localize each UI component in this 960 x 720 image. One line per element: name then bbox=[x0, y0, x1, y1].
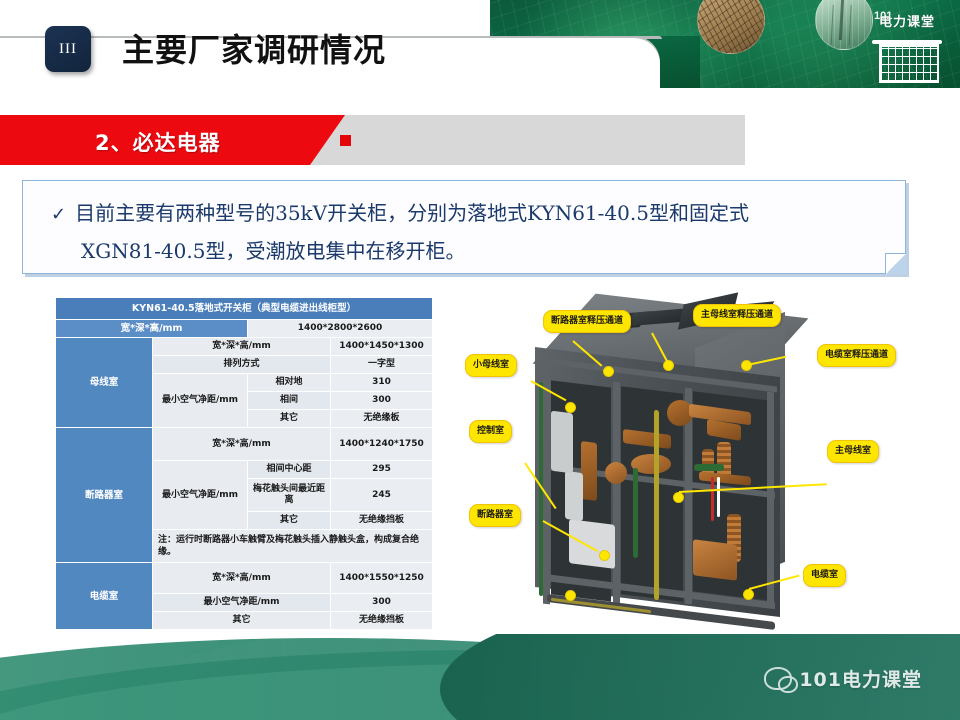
table-row: 断路器室 宽*深*高/mm 1400*1240*1750 bbox=[56, 428, 433, 461]
row-label: 其它 bbox=[153, 612, 331, 630]
callout-label-breaker-room[interactable]: 断路器室 bbox=[469, 504, 521, 527]
truck-panel bbox=[569, 519, 615, 569]
callout-label-breaker-relief[interactable]: 断路器室释压通道 bbox=[543, 310, 631, 333]
callout-dot bbox=[599, 550, 610, 561]
check-icon: ✓ bbox=[51, 204, 66, 225]
summary-line-1: ✓目前主要有两种型号的35kV开关柜，分别为落地式KYN61-40.5型和固定式 bbox=[51, 197, 749, 226]
green-wire bbox=[633, 468, 638, 558]
switchgear-diagram: 断路器室释压通道 主母线室释压通道 电缆室释压通道 小母线室 控制室 主母线室 … bbox=[455, 292, 945, 670]
row-value: 300 bbox=[331, 594, 433, 612]
footer-wave-decoration: 101电力课堂 bbox=[0, 634, 960, 720]
row-value: 1400*1450*1300 bbox=[331, 338, 433, 356]
callout-label-cable-room[interactable]: 电缆室 bbox=[803, 564, 846, 587]
callout-dot bbox=[565, 590, 576, 601]
control-panel bbox=[551, 411, 573, 474]
white-wire bbox=[717, 477, 720, 517]
overall-dimension-value: 1400*2800*2600 bbox=[248, 320, 433, 338]
section-title: 2、必达电器 bbox=[95, 127, 221, 157]
frame-post bbox=[613, 382, 620, 605]
row-label: 最小空气净距/mm bbox=[153, 461, 248, 530]
brand-logo: 101 电力课堂 bbox=[870, 4, 944, 84]
summary-line-2: XGN81-40.5型，受潮放电集中在移开柜。 bbox=[81, 235, 465, 264]
callout-label-cable-relief[interactable]: 电缆室释压通道 bbox=[817, 344, 896, 367]
row-value: 295 bbox=[331, 461, 433, 479]
callout-label-main-bus-relief[interactable]: 主母线室释压通道 bbox=[693, 304, 781, 327]
table-row: 母线室 宽*深*高/mm 1400*1450*1300 bbox=[56, 338, 433, 356]
vertical-conductor bbox=[581, 441, 597, 501]
overall-dimension-label: 宽*深*高/mm bbox=[56, 320, 248, 338]
red-square-bullet-icon bbox=[340, 135, 351, 146]
callout-dot bbox=[603, 366, 614, 377]
watermark-text: 101电力课堂 bbox=[799, 665, 922, 692]
table-title-cell: KYN61-40.5落地式开关柜（典型电缆进出线柜型） bbox=[56, 298, 433, 320]
callout-dot bbox=[663, 360, 674, 371]
logo-name-text: 电力课堂 bbox=[870, 16, 944, 30]
slide-root: 101 电力课堂 III 主要厂家调研情况 2、必达电器 ✓目前主要有两种型号的… bbox=[0, 0, 960, 720]
row-value: 无绝缘板 bbox=[331, 410, 433, 428]
row-sublabel: 梅花触头间最近距离 bbox=[248, 479, 331, 512]
section-banner-red: 2、必达电器 bbox=[0, 115, 345, 165]
callout-dot bbox=[743, 589, 754, 600]
callout-dot bbox=[565, 402, 576, 413]
row-label: 宽*深*高/mm bbox=[153, 563, 331, 594]
callout-label-control-room[interactable]: 控制室 bbox=[469, 420, 512, 443]
page-title: 主要厂家调研情况 bbox=[122, 25, 386, 71]
row-label: 最小空气净距/mm bbox=[153, 594, 331, 612]
row-value: 无绝缘挡板 bbox=[331, 512, 433, 530]
row-label: 最小空气净距/mm bbox=[153, 374, 248, 428]
wechat-icon bbox=[764, 667, 792, 690]
row-sublabel: 其它 bbox=[248, 512, 331, 530]
textbox-corner-fold-icon bbox=[885, 253, 906, 274]
yellow-interlock-rod bbox=[654, 410, 659, 600]
table-row: 电缆室 宽*深*高/mm 1400*1550*1250 bbox=[56, 563, 433, 594]
row-value: 1400*1240*1750 bbox=[331, 428, 433, 461]
spec-table: KYN61-40.5落地式开关柜（典型电缆进出线柜型） 宽*深*高/mm 140… bbox=[55, 297, 433, 630]
green-terminal-strip bbox=[694, 464, 724, 471]
red-wire bbox=[711, 477, 714, 521]
row-value: 1400*1550*1250 bbox=[331, 563, 433, 594]
row-sublabel: 相间中心距 bbox=[248, 461, 331, 479]
channel-watermark: 101电力课堂 bbox=[764, 665, 922, 692]
row-value: 一字型 bbox=[331, 356, 433, 374]
table-row: 宽*深*高/mm 1400*2800*2600 bbox=[56, 320, 433, 338]
cable-terminal-block bbox=[693, 539, 737, 580]
summary-textbox: ✓目前主要有两种型号的35kV开关柜，分别为落地式KYN61-40.5型和固定式… bbox=[22, 180, 906, 274]
slide-number-badge: III bbox=[45, 26, 91, 72]
contact-box bbox=[605, 462, 627, 484]
logo-house-shape bbox=[879, 44, 939, 83]
row-label: 宽*深*高/mm bbox=[153, 428, 331, 461]
row-value: 300 bbox=[331, 392, 433, 410]
row-label: 排列方式 bbox=[153, 356, 331, 374]
table-row: KYN61-40.5落地式开关柜（典型电缆进出线柜型） bbox=[56, 298, 433, 320]
callout-label-small-bus-room[interactable]: 小母线室 bbox=[465, 354, 517, 377]
row-sublabel: 相间 bbox=[248, 392, 331, 410]
summary-line-1-text: 目前主要有两种型号的35kV开关柜，分别为落地式KYN61-40.5型和固定式 bbox=[75, 201, 749, 225]
row-label: 宽*深*高/mm bbox=[153, 338, 331, 356]
section-name-cable: 电缆室 bbox=[56, 563, 153, 630]
callout-dot bbox=[673, 492, 684, 503]
section-name-busbar: 母线室 bbox=[56, 338, 153, 428]
breaker-note: 注：运行时断路器小车触臂及梅花触头插入静触头盒，构成复合绝缘。 bbox=[153, 530, 433, 563]
row-sublabel: 相对地 bbox=[248, 374, 331, 392]
section-name-breaker: 断路器室 bbox=[56, 428, 153, 563]
truck-panel bbox=[565, 471, 583, 521]
row-value: 无绝缘挡板 bbox=[331, 612, 433, 630]
callout-label-main-bus-room[interactable]: 主母线室 bbox=[827, 440, 879, 463]
row-sublabel: 其它 bbox=[248, 410, 331, 428]
row-value: 245 bbox=[331, 479, 433, 512]
row-value: 310 bbox=[331, 374, 433, 392]
